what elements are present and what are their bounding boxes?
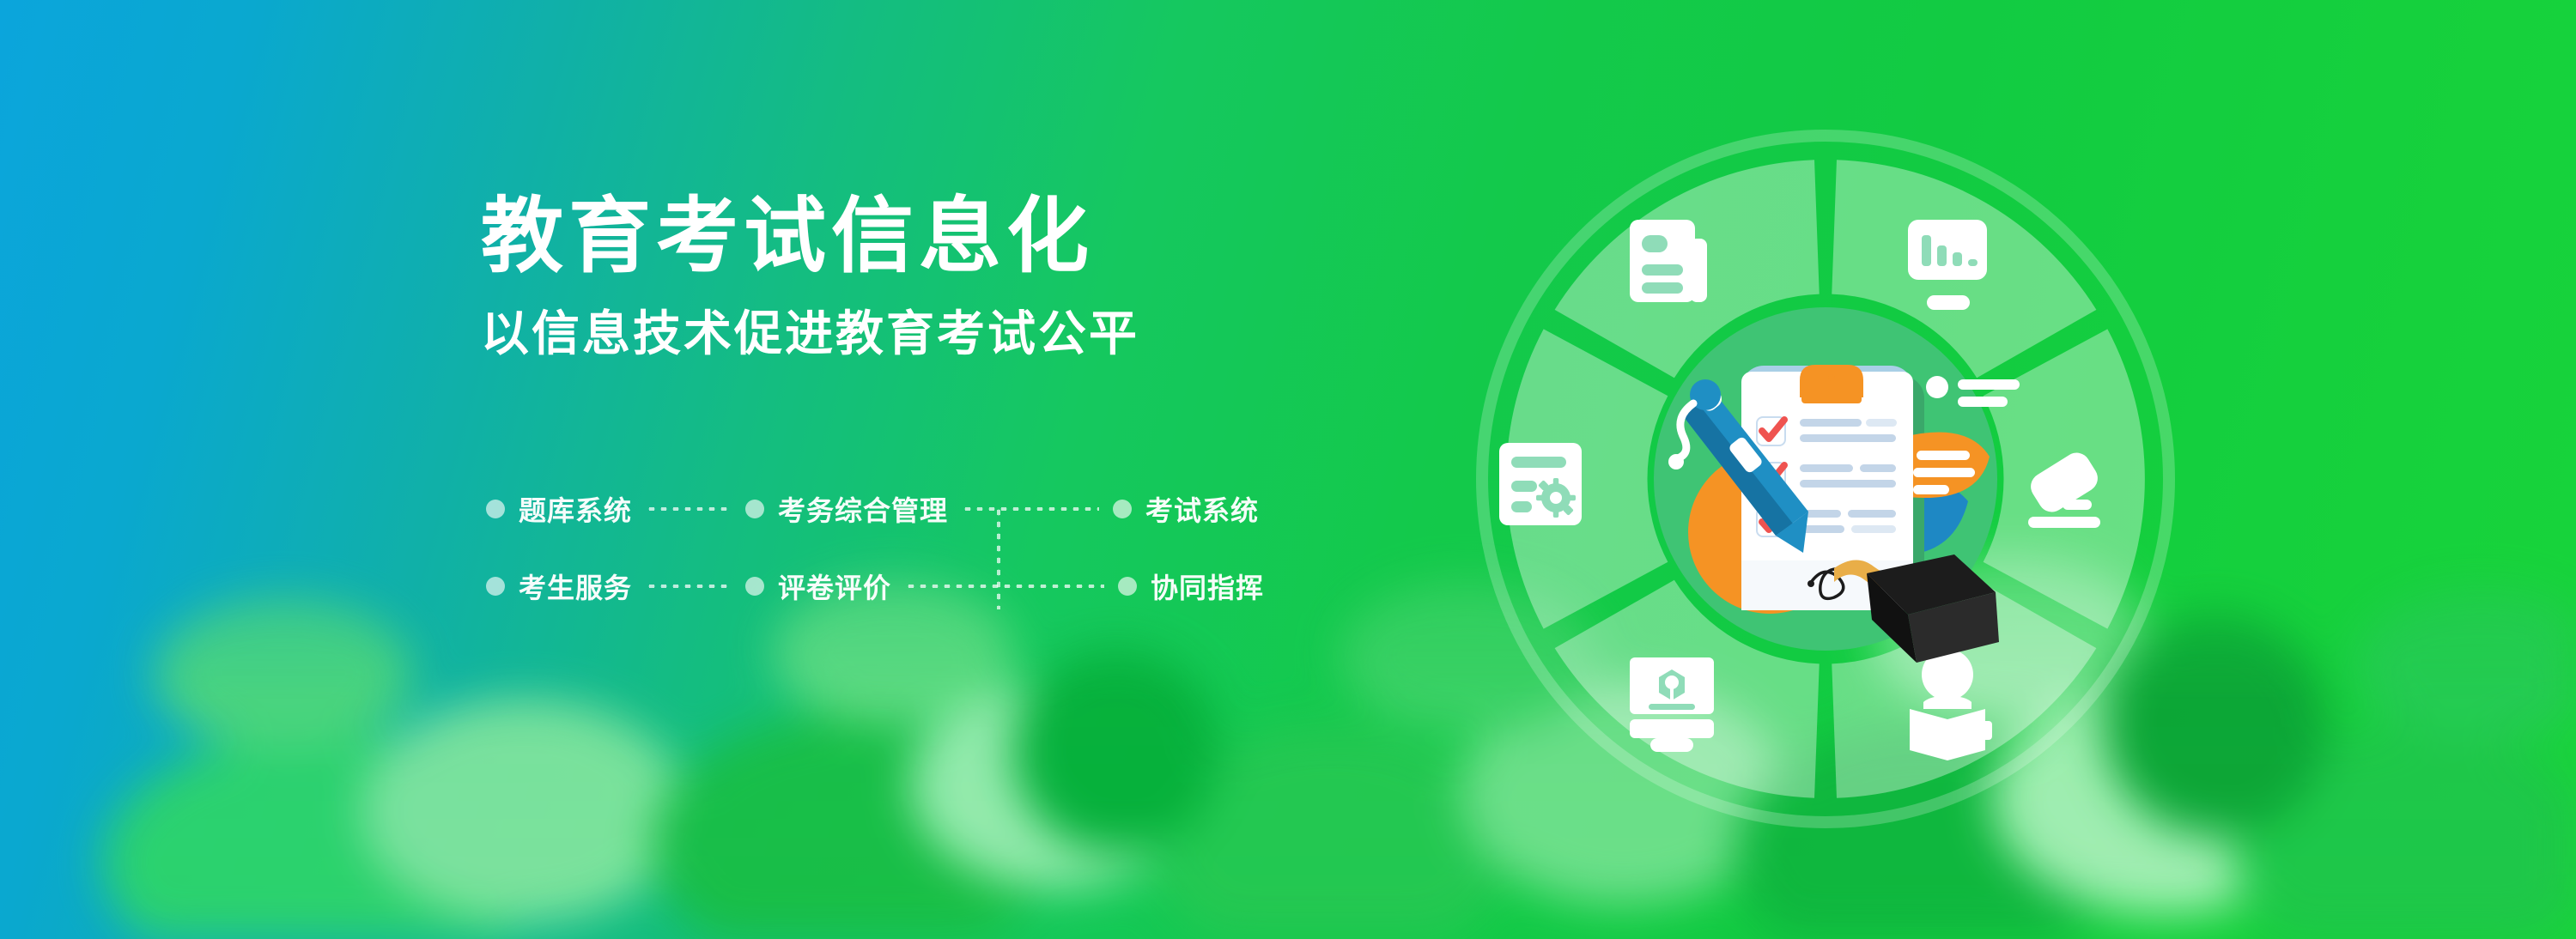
- circular-infographic: [1439, 93, 2212, 865]
- bullet-dot-icon: [745, 577, 764, 596]
- feature-row-1: 题库系统 考务综合管理 考试系统: [486, 486, 1264, 532]
- headline-block: 教育考试信息化 以信息技术促进教育考试公平: [481, 194, 1139, 362]
- feature-label: 题库系统: [519, 489, 632, 529]
- bullet-dot-icon: [1113, 500, 1132, 518]
- bullet-dot-icon: [1118, 577, 1137, 596]
- photo-blob: [361, 699, 687, 922]
- feature-label: 考务综合管理: [778, 489, 948, 529]
- feature-item-pingjuan[interactable]: 评卷评价: [745, 566, 891, 606]
- feature-item-xietong[interactable]: 协同指挥: [1118, 566, 1264, 606]
- feature-label: 协同指挥: [1151, 566, 1264, 606]
- page-subtitle: 以信息技术促进教育考试公平: [481, 305, 1139, 362]
- feature-item-tiku[interactable]: 题库系统: [486, 489, 632, 529]
- bullet-dot-icon: [486, 500, 505, 518]
- bullet-dot-icon: [745, 500, 764, 518]
- bullet-dot-icon: [486, 577, 505, 596]
- page-title: 教育考试信息化: [481, 194, 1139, 281]
- dotted-connector: [646, 585, 732, 588]
- photo-blob: [2353, 587, 2576, 742]
- feature-label: 评卷评价: [778, 566, 891, 606]
- dotted-connector: [962, 507, 1099, 511]
- feature-list: 题库系统 考务综合管理 考试系统 考生服务 评卷评价: [486, 486, 1264, 609]
- graduation-cap-icon: [1867, 554, 1999, 663]
- photo-blob: [155, 596, 412, 750]
- hero-banner: 教育考试信息化 以信息技术促进教育考试公平 题库系统 考务综合管理 考试系统: [0, 0, 2576, 939]
- feature-row-2: 考生服务 评卷评价 协同指挥: [486, 563, 1264, 609]
- dotted-connector: [905, 585, 1104, 588]
- feature-item-kaoshi[interactable]: 考试系统: [1113, 489, 1259, 529]
- dotted-connector: [646, 507, 732, 511]
- monitor-location-pin-icon: [1630, 657, 1714, 752]
- feature-item-kaosheng[interactable]: 考生服务: [486, 566, 632, 606]
- settings-list-icon: [1499, 443, 1582, 525]
- feature-label: 考生服务: [519, 566, 632, 606]
- feature-label: 考试系统: [1145, 489, 1259, 529]
- photo-blob: [1013, 647, 1219, 853]
- feature-item-kaowu[interactable]: 考务综合管理: [745, 489, 948, 529]
